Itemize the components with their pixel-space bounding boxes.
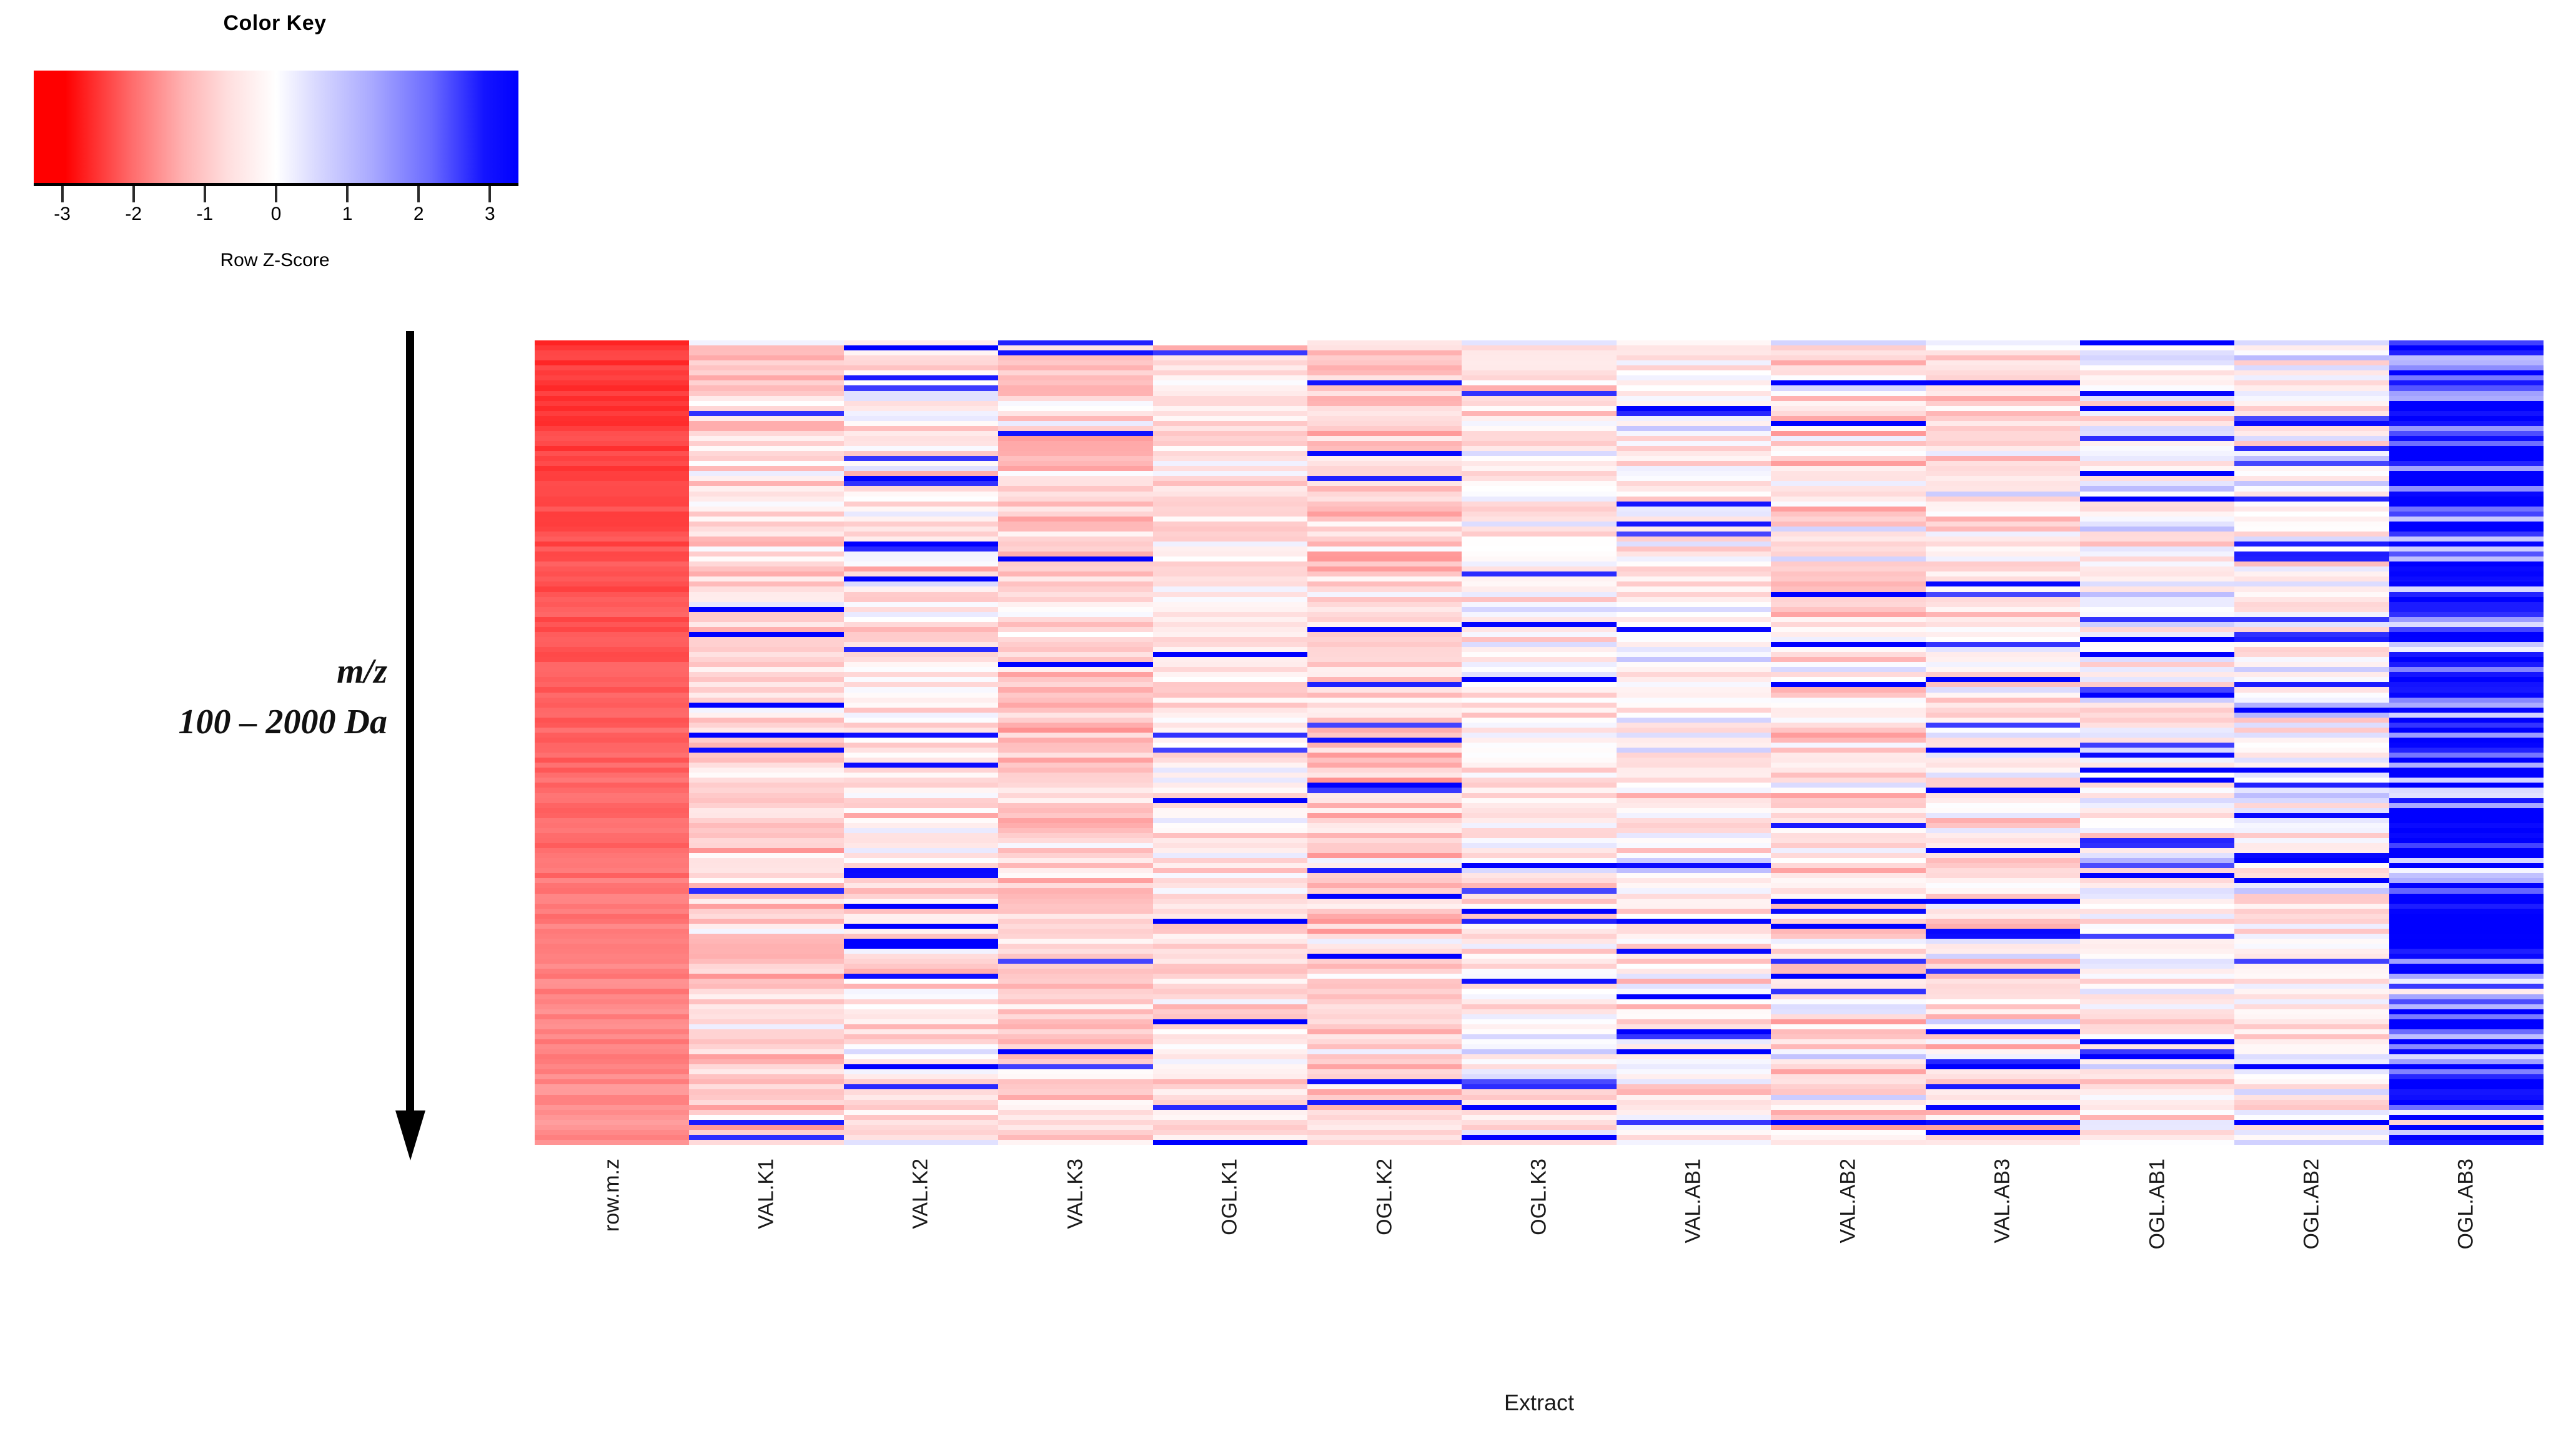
heatmap-cell: [1617, 1140, 1771, 1145]
color-key-tick-label: -3: [37, 204, 87, 225]
heatmap-column: [1462, 340, 1616, 1145]
color-key-tick: [417, 186, 420, 202]
heatmap-column-label-slot: OGL.K3: [1462, 1159, 1616, 1346]
heatmap-column: [1153, 340, 1307, 1145]
heatmap-column-label: VAL.AB1: [1682, 1159, 1706, 1243]
color-key-legend: Color Key -3-2-10123 Row Z-Score: [0, 0, 550, 287]
heatmap-column-label-slot: OGL.K2: [1307, 1159, 1462, 1346]
color-key-tick: [275, 186, 277, 202]
y-axis-label: m/z 100 – 2000 Da: [37, 646, 387, 748]
heatmap-cell: [1462, 1140, 1616, 1145]
heatmap-column-label: OGL.AB3: [2454, 1159, 2479, 1250]
heatmap-column-label-slot: OGL.AB1: [2080, 1159, 2234, 1346]
heatmap-column: [689, 340, 843, 1145]
heatmap-cell: [1926, 1140, 2080, 1145]
heatmap-column-labels: row.m.zVAL.K1VAL.K2VAL.K3OGL.K1OGL.K2OGL…: [535, 1159, 2544, 1346]
heatmap-column-label: OGL.K3: [1527, 1159, 1552, 1235]
color-key-tick-label: -1: [180, 204, 230, 225]
heatmap-column: [2234, 340, 2389, 1145]
heatmap-cell: [998, 1140, 1152, 1145]
heatmap-column-label-slot: VAL.K3: [998, 1159, 1152, 1346]
heatmap-column: [535, 340, 689, 1145]
heatmap-column-label: row.m.z: [600, 1159, 624, 1232]
heatmap-column-label-slot: OGL.AB3: [2389, 1159, 2544, 1346]
y-axis-label-line1: m/z: [37, 646, 387, 697]
heatmap-column-label-slot: VAL.K1: [689, 1159, 843, 1346]
x-axis-label: Extract: [535, 1390, 2544, 1416]
color-key-tick: [346, 186, 349, 202]
color-key-tick: [488, 186, 491, 202]
heatmap-cell: [2389, 1140, 2544, 1145]
color-key-tick-label: -2: [109, 204, 159, 225]
heatmap-column: [1771, 340, 1925, 1145]
arrow-shaft: [406, 331, 414, 1115]
heatmap-cell: [535, 1140, 689, 1145]
heatmap-column-label: OGL.AB2: [2299, 1159, 2324, 1250]
heatmap-column: [2080, 340, 2234, 1145]
heatmap-cell: [1153, 1140, 1307, 1145]
color-key-title: Color Key: [0, 11, 550, 36]
m-z-direction-arrow-icon: [400, 331, 419, 1162]
y-axis-label-line2: 100 – 2000 Da: [37, 697, 387, 748]
color-key-tick-label: 0: [251, 204, 301, 225]
color-key-tick: [132, 186, 135, 202]
heatmap-cell: [1307, 1140, 1462, 1145]
heatmap-column: [1617, 340, 1771, 1145]
heatmap-column-label: VAL.AB3: [1991, 1159, 2015, 1243]
color-key-tick-label: 3: [465, 204, 515, 225]
heatmap-cell: [844, 1140, 998, 1145]
heatmap-grid: [535, 340, 2544, 1145]
heatmap-column-label-slot: row.m.z: [535, 1159, 689, 1346]
heatmap-column-label: OGL.AB1: [2145, 1159, 2169, 1250]
color-key-gradient-bar: [34, 71, 518, 186]
heatmap-column-label-slot: VAL.AB3: [1926, 1159, 2080, 1346]
arrow-head: [395, 1110, 425, 1160]
heatmap-column-label-slot: OGL.AB2: [2234, 1159, 2389, 1346]
heatmap-cell: [1771, 1140, 1925, 1145]
color-key-tick: [61, 186, 64, 202]
heatmap-column-label-slot: VAL.K2: [844, 1159, 998, 1346]
heatmap-cell: [2080, 1140, 2234, 1145]
heatmap-plot-area: [535, 340, 2544, 1145]
heatmap-column: [998, 340, 1152, 1145]
heatmap-column-label-slot: VAL.AB1: [1617, 1159, 1771, 1346]
heatmap-column-label: VAL.AB2: [1836, 1159, 1860, 1243]
heatmap-column: [1926, 340, 2080, 1145]
heatmap-column-label: VAL.K3: [1063, 1159, 1087, 1229]
heatmap-column: [1307, 340, 1462, 1145]
heatmap-column: [2389, 340, 2544, 1145]
heatmap-cell: [2234, 1140, 2389, 1145]
heatmap-column-label: VAL.K2: [909, 1159, 933, 1229]
heatmap-column-label: OGL.K2: [1372, 1159, 1397, 1235]
heatmap-column-label: OGL.K1: [1218, 1159, 1242, 1235]
heatmap-column-label-slot: VAL.AB2: [1771, 1159, 1925, 1346]
color-key-tick-label: 2: [394, 204, 443, 225]
color-key-tick: [204, 186, 206, 202]
heatmap-column-label-slot: OGL.K1: [1153, 1159, 1307, 1346]
color-key-tick-label: 1: [322, 204, 372, 225]
heatmap-column: [844, 340, 998, 1145]
heatmap-column-label: VAL.K1: [755, 1159, 779, 1229]
color-key-axis-label: Row Z-Score: [0, 250, 550, 271]
heatmap-cell: [689, 1140, 843, 1145]
